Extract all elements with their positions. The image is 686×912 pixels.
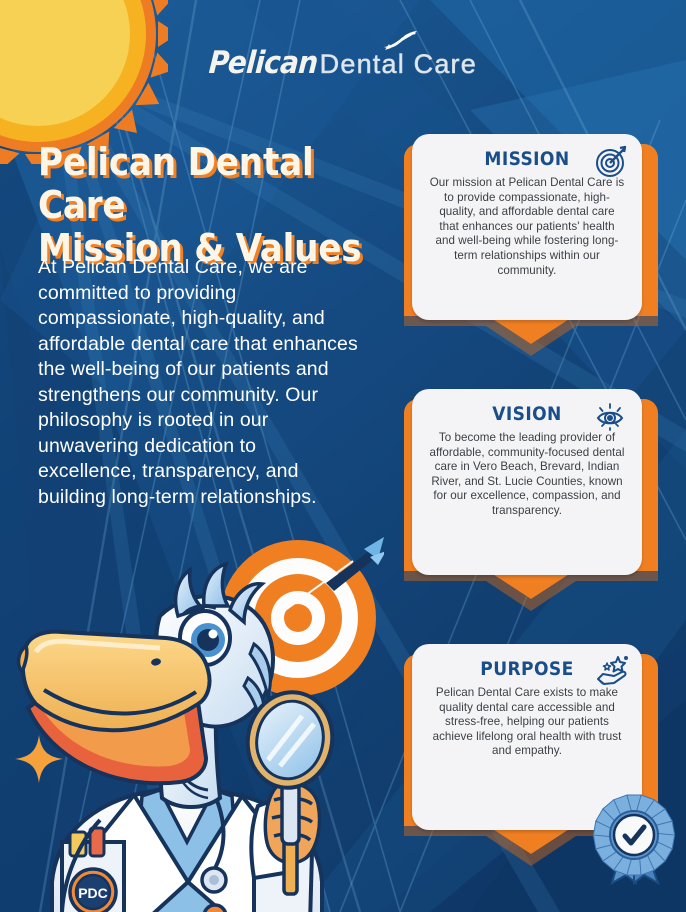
card-body: Pelican Dental Care exists to make quali… [428, 686, 626, 759]
headline-line-1: Pelican Dental Care [38, 140, 313, 227]
pelican-bird-icon [381, 30, 421, 52]
poster-canvas: PelicanDental Care Pelican Dental Care M… [0, 0, 686, 912]
card-mission[interactable]: MISSION Our mission at Pelican Dental Ca… [404, 130, 658, 362]
pdc-badge-label: PDC [78, 885, 108, 901]
award-rosette-check-badge [592, 793, 676, 885]
page-title: Pelican Dental Care Mission & Values [38, 141, 398, 270]
cards-column: MISSION Our mission at Pelican Dental Ca… [404, 0, 686, 912]
card-body: Our mission at Pelican Dental Care is to… [428, 176, 626, 278]
lead-paragraph: At Pelican Dental Care, we are committed… [38, 255, 358, 510]
logo-primary-text: Pelican [208, 45, 319, 81]
hand-stars-icon [594, 653, 630, 689]
brand-logo: PelicanDental Care [0, 45, 686, 81]
pelican-dentist-mascot: PDC [0, 552, 382, 912]
card-body: To become the leading provider of afford… [428, 431, 626, 519]
logo-secondary-text: Dental Care [320, 49, 477, 80]
card-vision[interactable]: VISION To become the leading provider of… [404, 385, 658, 617]
target-arrow-icon [594, 143, 630, 179]
eye-rays-icon [594, 398, 630, 434]
